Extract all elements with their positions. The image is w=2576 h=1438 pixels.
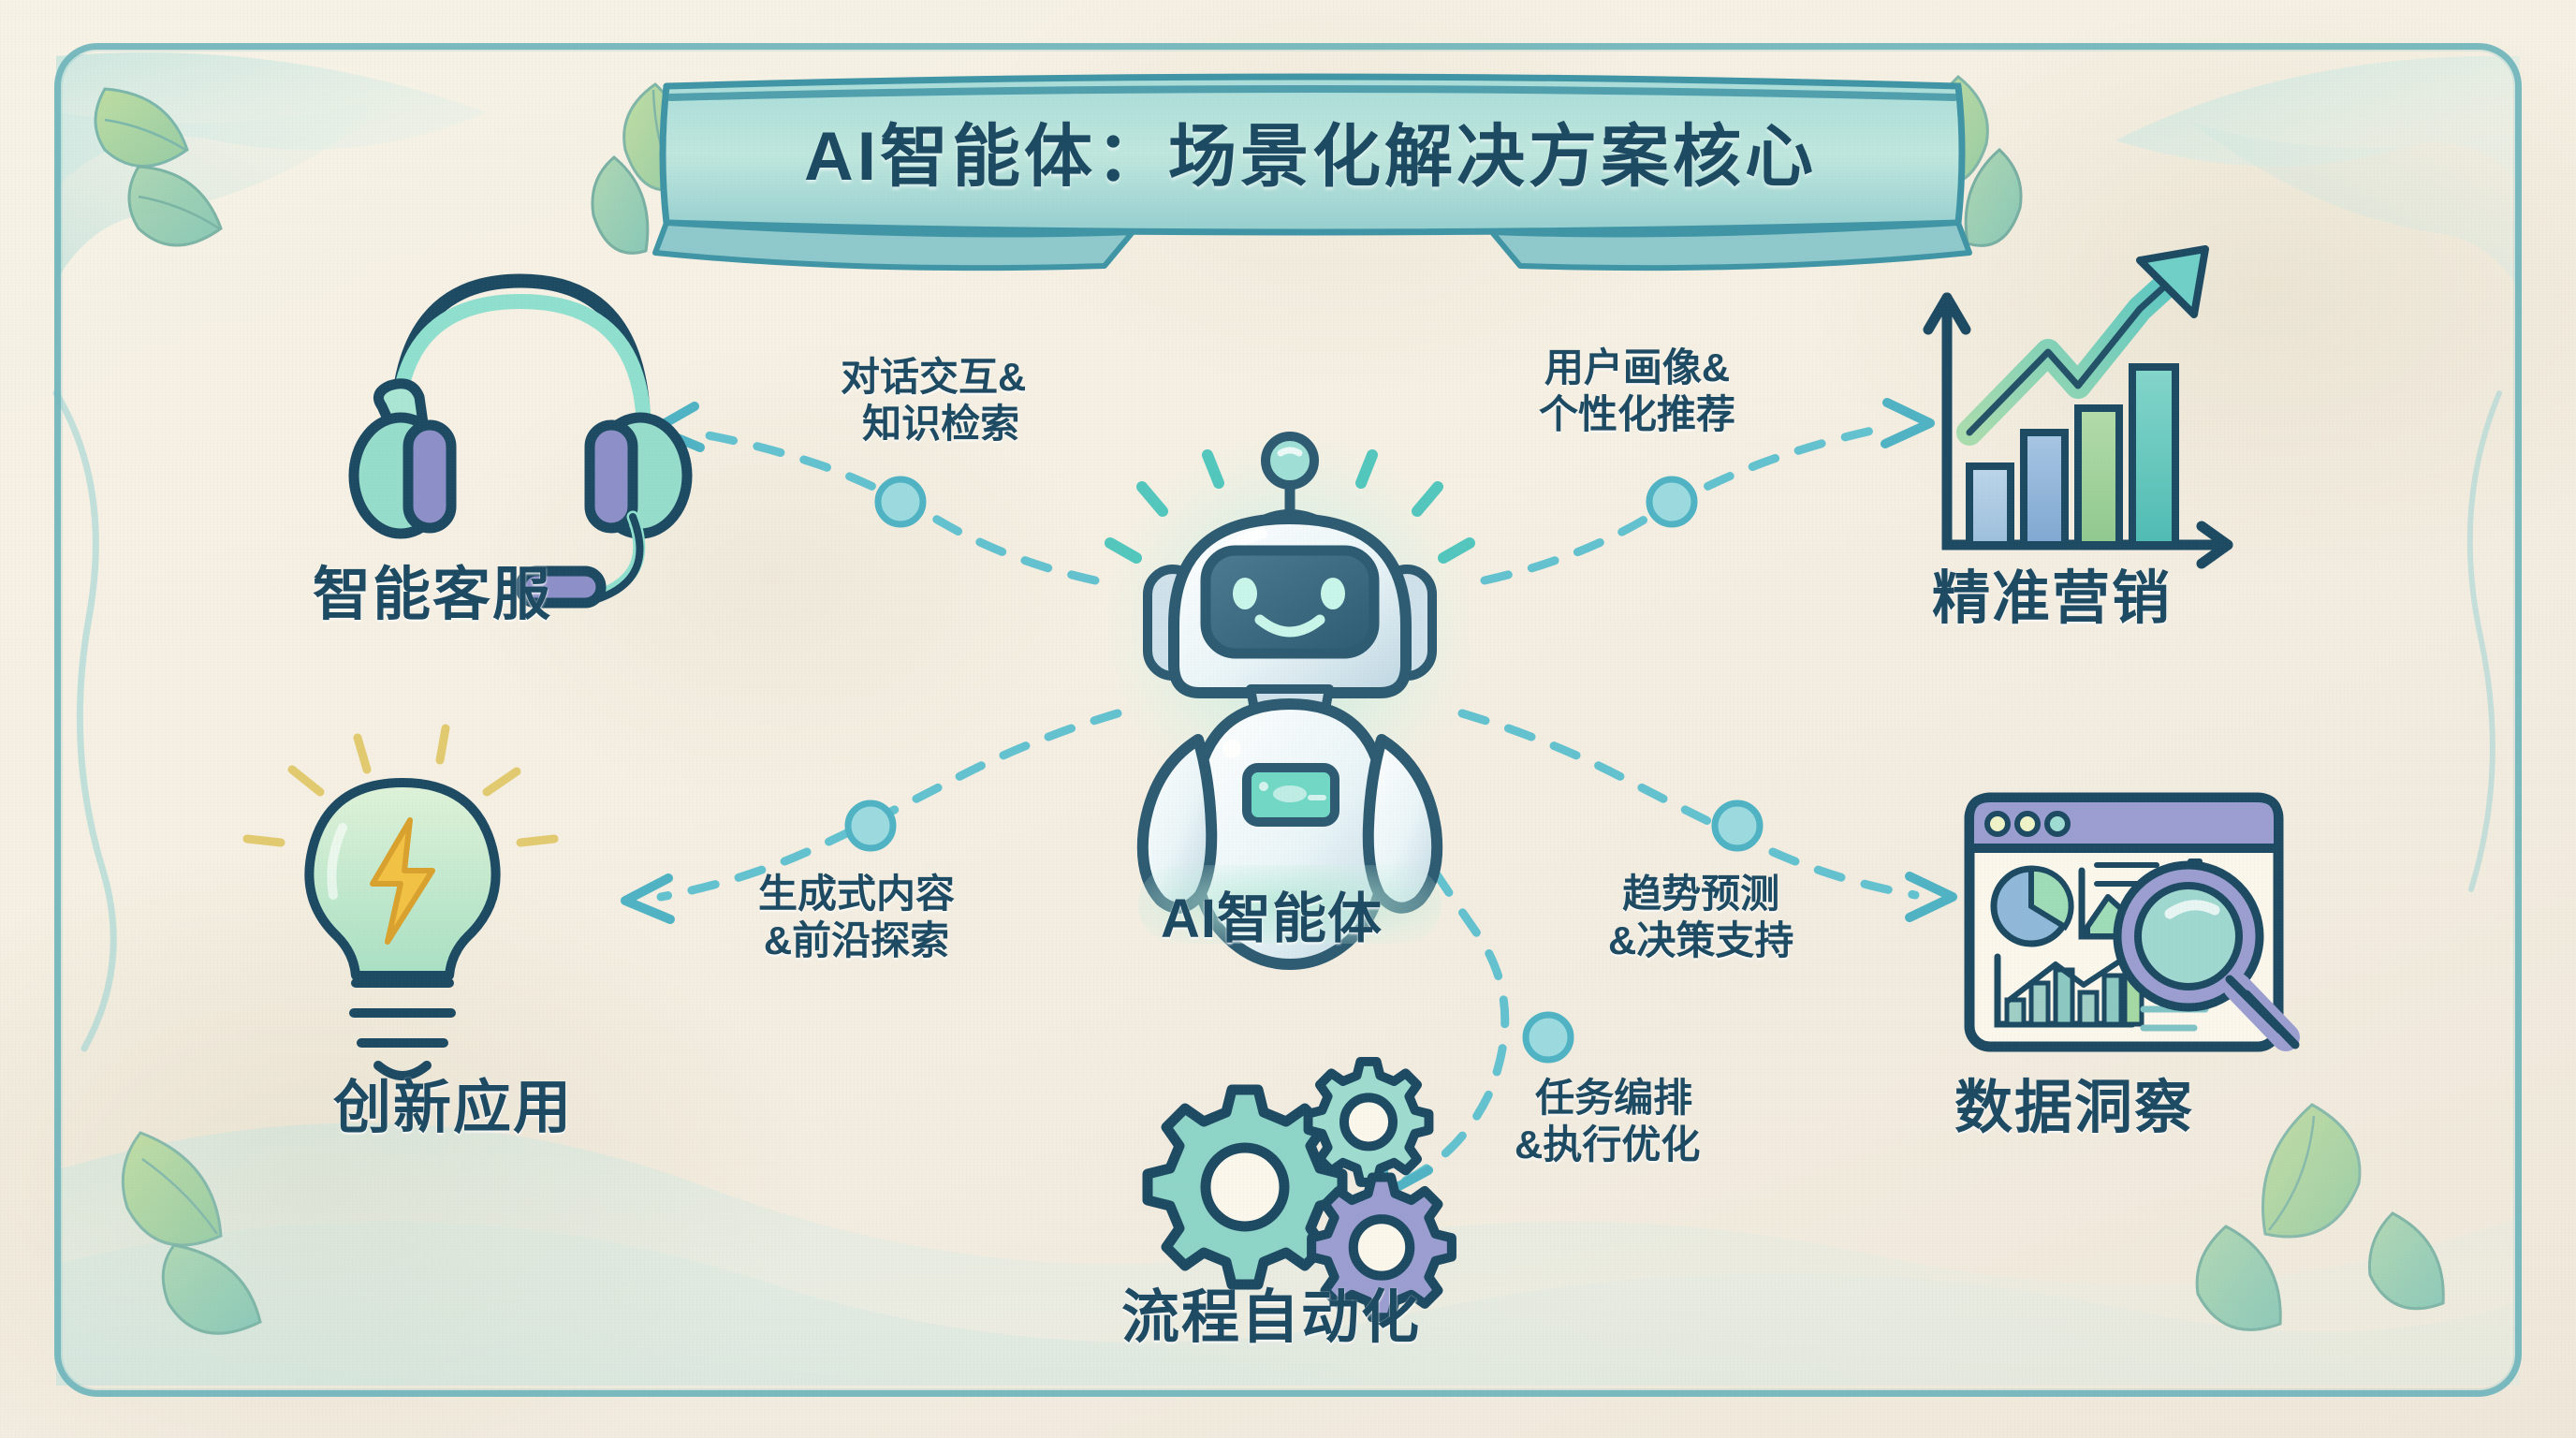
edge-label-line1: 生成式内容 — [758, 871, 955, 917]
edge-label-line2: &决策支持 — [1608, 917, 1793, 964]
node-label-process-automation[interactable]: 流程自动化 — [1121, 1269, 1421, 1354]
edge-label-to-process-automation: 任务编排 &执行优化 — [1528, 1075, 1700, 1167]
bar-chart-growth-icon — [1928, 249, 2228, 564]
edge-label-to-precision-marketing: 用户画像& 个性化推荐 — [1539, 345, 1735, 437]
center-label[interactable]: AI智能体 — [1161, 874, 1383, 953]
edge-label-line2: &前沿探索 — [758, 917, 955, 964]
edge-label-line2: &执行优化 — [1515, 1122, 1700, 1168]
edge-label-line2: 知识检索 — [856, 401, 1026, 448]
edge-label-line1: 趋势预测 — [1608, 871, 1793, 917]
edge-label-to-innovation-apps: 生成式内容 &前沿探索 — [758, 871, 955, 963]
lightbulb-icon — [247, 728, 554, 1076]
node-label-data-insight[interactable]: 数据洞察 — [1954, 1060, 2194, 1144]
edge-label-line1: 任务编排 — [1528, 1075, 1700, 1122]
edge-label-to-customer-service: 对话交互& 知识检索 — [841, 354, 1026, 447]
edge-label-line1: 对话交互& — [841, 354, 1026, 401]
node-label-innovation-apps[interactable]: 创新应用 — [333, 1060, 573, 1144]
node-icons — [0, 0, 2576, 1438]
node-label-precision-marketing[interactable]: 精准营销 — [1932, 550, 2172, 635]
dashboard-magnifier-icon — [1969, 798, 2295, 1047]
edge-label-line1: 用户画像& — [1539, 345, 1735, 391]
edge-label-line2: 个性化推荐 — [1539, 391, 1735, 438]
edge-label-to-data-insight: 趋势预测 &决策支持 — [1608, 871, 1793, 963]
node-label-customer-service[interactable]: 智能客服 — [313, 547, 552, 631]
infographic-canvas: AI智能体：场景化解决方案核心 — [0, 0, 2576, 1438]
